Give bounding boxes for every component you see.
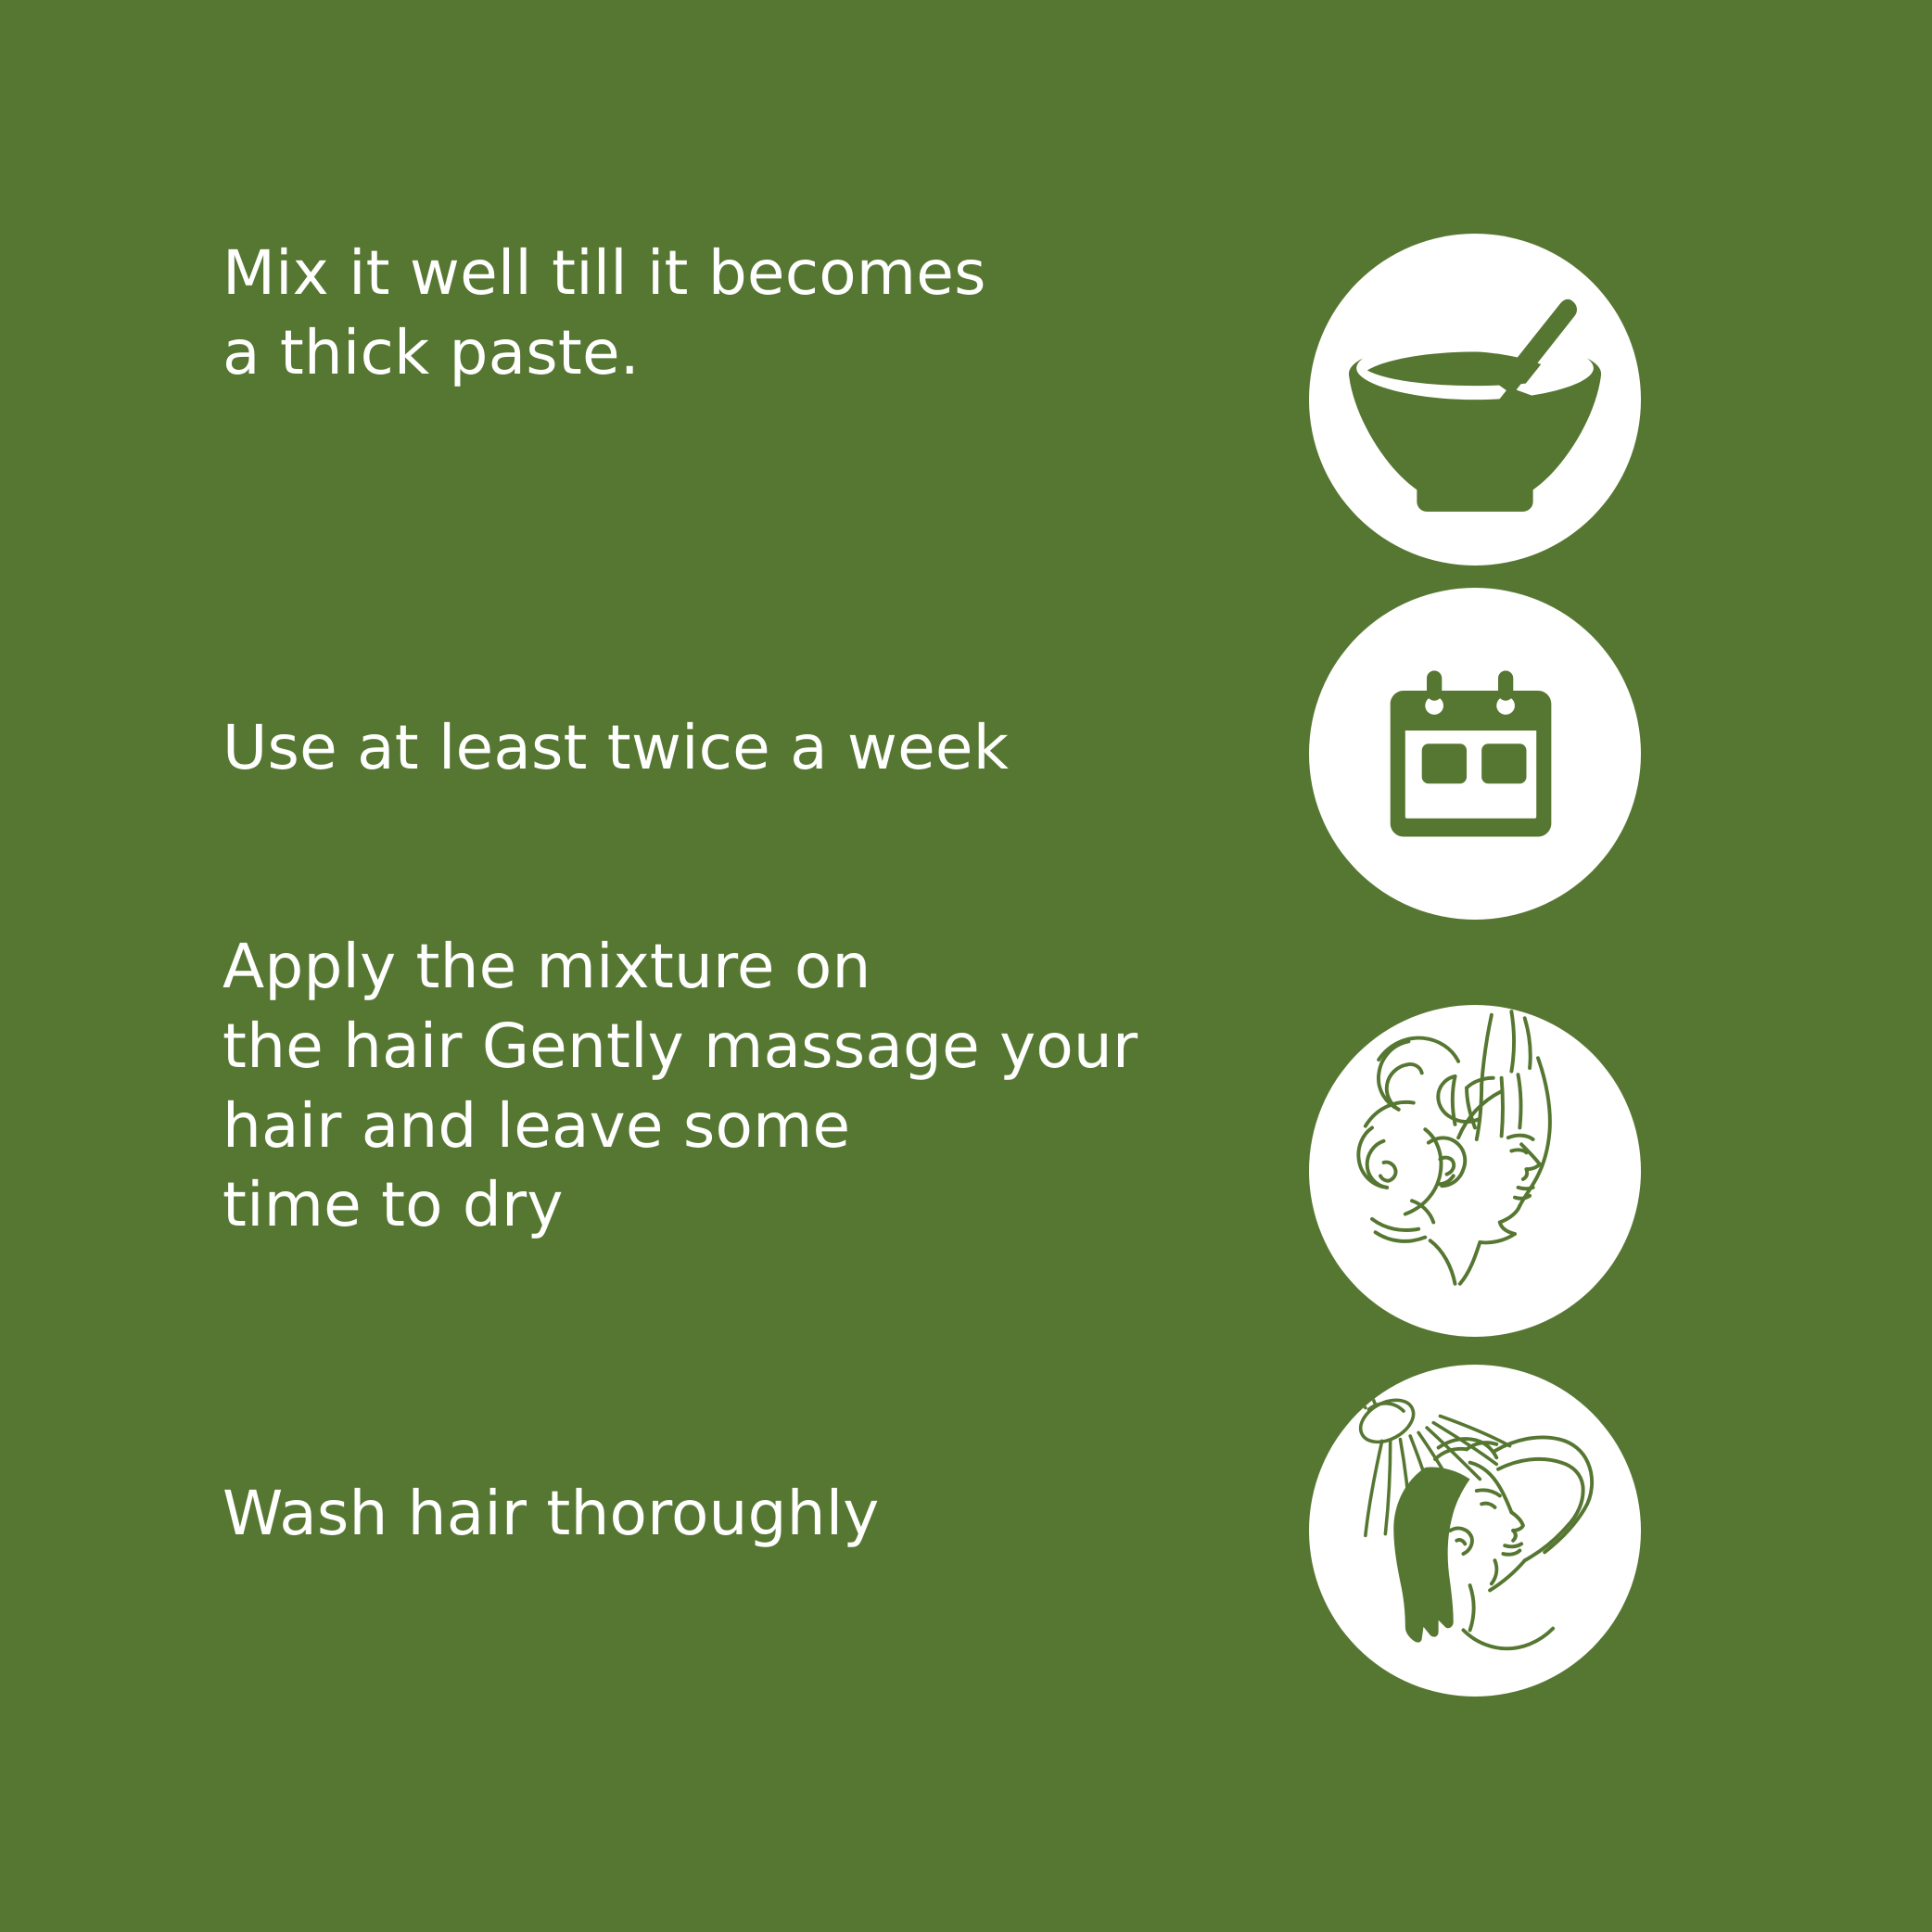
icon-badge-mix-paste — [1309, 234, 1641, 566]
step-text-frequency: Use at least twice a week — [222, 708, 1009, 788]
icon-badge-frequency — [1309, 588, 1641, 920]
calendar-icon — [1309, 588, 1641, 920]
step-item-frequency: Use at least twice a week — [222, 708, 1009, 788]
steps-icon-column — [1305, 0, 1676, 1932]
instructions-poster: Mix it well till it becomes a thick past… — [0, 0, 1932, 1932]
step-item-apply-and-massage: Apply the mixture on the hair Gently mas… — [222, 927, 1138, 1245]
bowl-with-spoon-icon — [1309, 234, 1641, 566]
step-item-wash-hair: Wash hair thoroughly — [222, 1474, 880, 1554]
hair-massage-icon — [1309, 1005, 1641, 1337]
step-item-mix-paste: Mix it well till it becomes a thick past… — [222, 234, 986, 393]
step-text-apply-and-massage: Apply the mixture on the hair Gently mas… — [222, 927, 1138, 1245]
shower-wash-hair-icon — [1309, 1365, 1641, 1697]
step-text-wash-hair: Wash hair thoroughly — [222, 1474, 880, 1554]
icon-badge-wash-hair — [1309, 1365, 1641, 1697]
step-text-mix-paste: Mix it well till it becomes a thick past… — [222, 234, 986, 393]
icon-badge-apply-and-massage — [1309, 1005, 1641, 1337]
